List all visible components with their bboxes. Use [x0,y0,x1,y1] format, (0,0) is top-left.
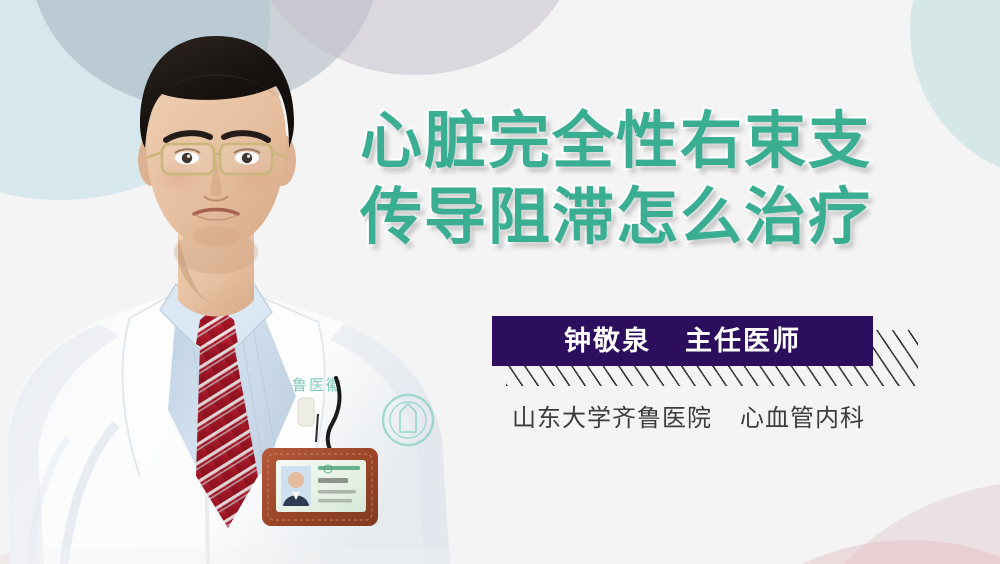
speaker-name: 钟敬泉 [564,328,651,355]
doctor-portrait: 鲁医徽 [0,0,470,564]
headline-line-2: 传导阻滞怎么治疗 [360,180,980,256]
doctor-head [138,36,296,248]
speaker-banner-group: 钟敬泉 主任医师 [492,316,892,366]
speaker-name-banner: 钟敬泉 主任医师 [492,316,873,366]
speaker-department: 心血管内科 [740,398,865,433]
decor-circle-bottom-right-rose-2 [700,540,1000,564]
speaker-hospital: 山东大学齐鲁医院 [512,398,712,433]
poster-canvas: 鲁医徽 [0,0,1000,564]
speaker-title: 主任医师 [685,328,801,355]
headline-line-1: 心脏完全性右束支 [360,104,980,180]
speaker-affiliation: 山东大学齐鲁医院 心血管内科 [512,398,982,433]
headline: 心脏完全性右束支 传导阻滞怎么治疗 [360,104,980,256]
decor-circle-bottom-right-rose-1 [790,480,1000,564]
